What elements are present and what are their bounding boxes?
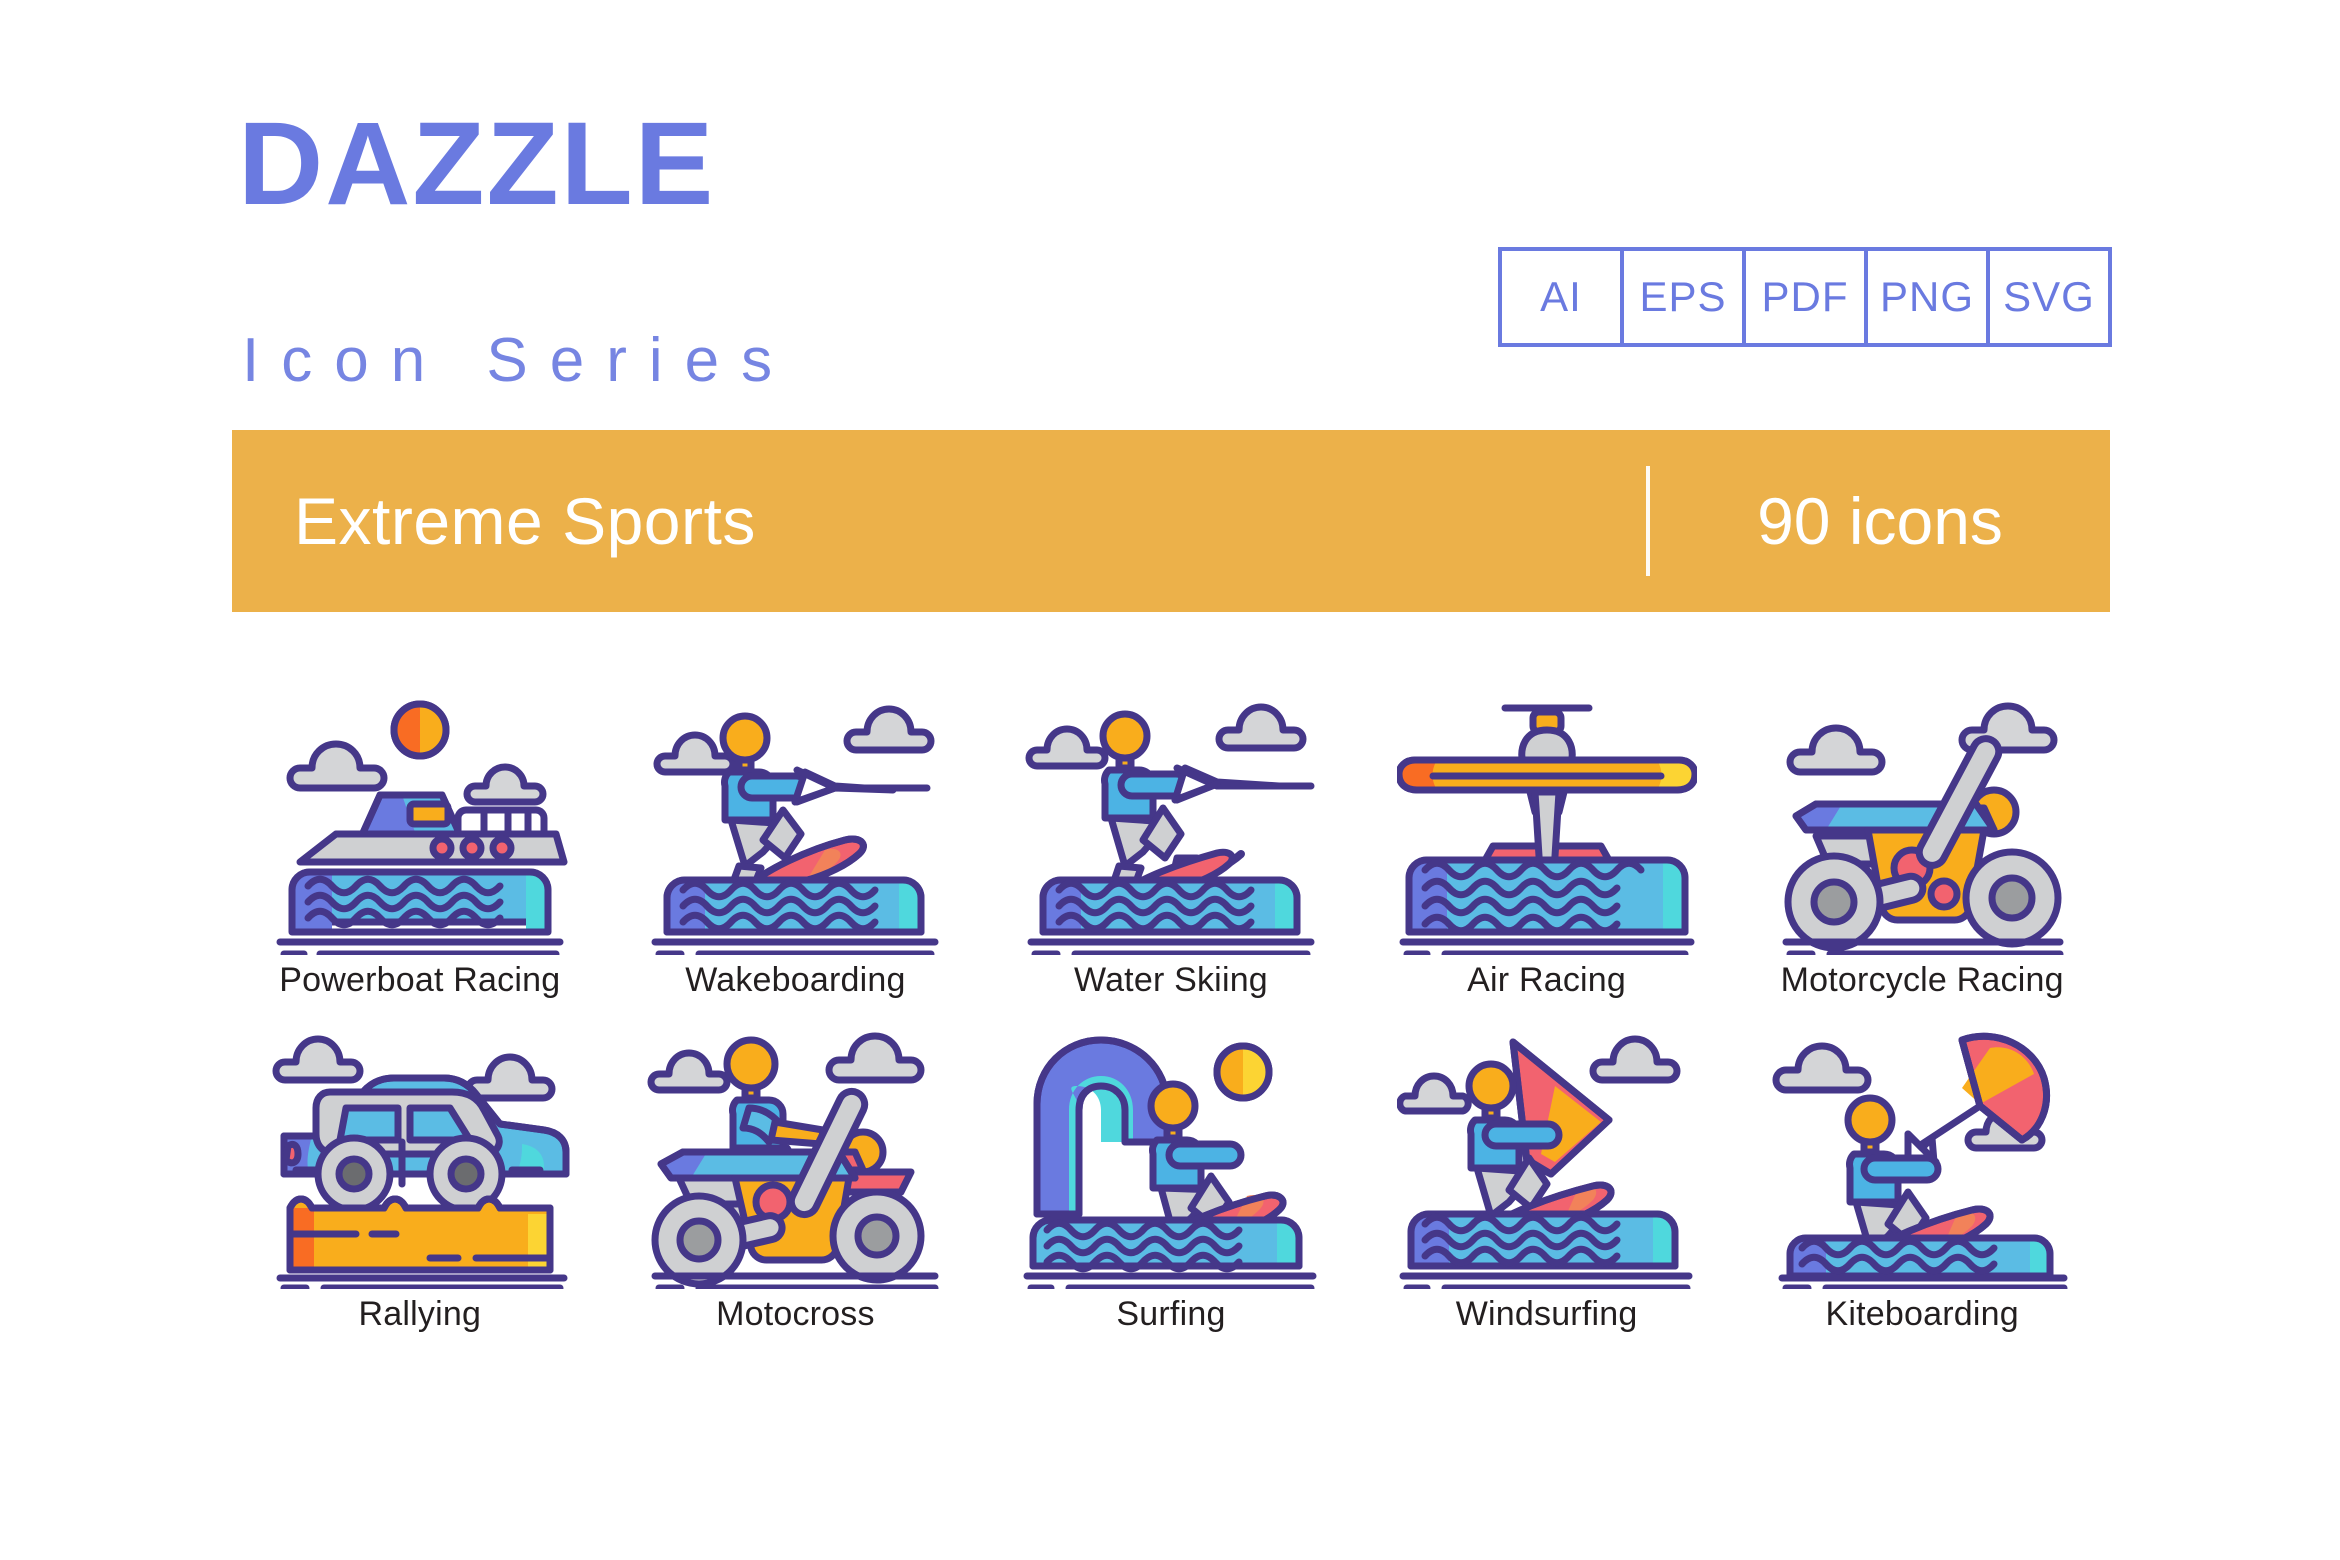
category-banner: Extreme Sports 90 icons [232, 430, 2110, 612]
wakeboarding-icon[interactable] [645, 690, 945, 955]
icon-pack-preview: DAZZLE Icon Series AI EPS PDF PNG SVG Ex… [0, 0, 2340, 1560]
icon-label: Air Racing [1467, 961, 1626, 1000]
page-title: DAZZLE [238, 105, 715, 223]
icon-cell-air-racing[interactable]: Air Racing [1359, 690, 1735, 1000]
icon-label: Rallying [359, 1295, 482, 1334]
icon-cell-motocross[interactable]: Motocross [608, 1024, 984, 1334]
icon-cell-water-skiing[interactable]: Water Skiing [983, 690, 1359, 1000]
icon-cell-surfing[interactable]: Surfing [983, 1024, 1359, 1334]
header: DAZZLE Icon Series AI EPS PDF PNG SVG [232, 75, 2112, 345]
category-title: Extreme Sports [294, 483, 756, 559]
icon-cell-rallying[interactable]: Rallying [232, 1024, 608, 1334]
format-badge-svg[interactable]: SVG [1990, 251, 2108, 343]
icon-cell-motorcycle-racing[interactable]: Motorcycle Racing [1734, 690, 2110, 1000]
icon-label: Water Skiing [1074, 961, 1268, 1000]
icon-cell-wakeboarding[interactable]: Wakeboarding [608, 690, 984, 1000]
powerboat-racing-icon[interactable] [270, 690, 570, 955]
motorcycle-racing-icon[interactable] [1772, 690, 2072, 955]
format-badge-ai[interactable]: AI [1502, 251, 1624, 343]
icon-cell-kiteboarding[interactable]: Kiteboarding [1734, 1024, 2110, 1334]
format-badge-pdf[interactable]: PDF [1746, 251, 1868, 343]
air-racing-icon[interactable] [1397, 690, 1697, 955]
format-badge-eps[interactable]: EPS [1624, 251, 1746, 343]
format-badge-group: AI EPS PDF PNG SVG [1498, 247, 2112, 347]
format-badge-png[interactable]: PNG [1868, 251, 1990, 343]
page-subtitle: Icon Series [242, 330, 794, 392]
rallying-icon[interactable] [270, 1024, 570, 1289]
banner-divider [1646, 466, 1650, 576]
icon-cell-windsurfing[interactable]: Windsurfing [1359, 1024, 1735, 1334]
kiteboarding-icon[interactable] [1772, 1024, 2072, 1289]
motocross-icon[interactable] [645, 1024, 945, 1289]
banner-right-group: 90 icons [1646, 430, 2110, 612]
icon-label: Powerboat Racing [279, 961, 560, 1000]
windsurfing-icon[interactable] [1397, 1024, 1697, 1289]
icon-label: Kiteboarding [1826, 1295, 2019, 1334]
icon-grid: Powerboat Racing [232, 690, 2110, 1334]
icon-label: Surfing [1116, 1295, 1225, 1334]
water-skiing-icon[interactable] [1021, 690, 1321, 955]
icon-count: 90 icons [1650, 483, 2110, 559]
icon-cell-powerboat-racing[interactable]: Powerboat Racing [232, 690, 608, 1000]
surfing-icon[interactable] [1021, 1024, 1321, 1289]
icon-label: Motocross [716, 1295, 875, 1334]
icon-label: Windsurfing [1456, 1295, 1638, 1334]
icon-label: Wakeboarding [685, 961, 905, 1000]
icon-label: Motorcycle Racing [1781, 961, 2064, 1000]
